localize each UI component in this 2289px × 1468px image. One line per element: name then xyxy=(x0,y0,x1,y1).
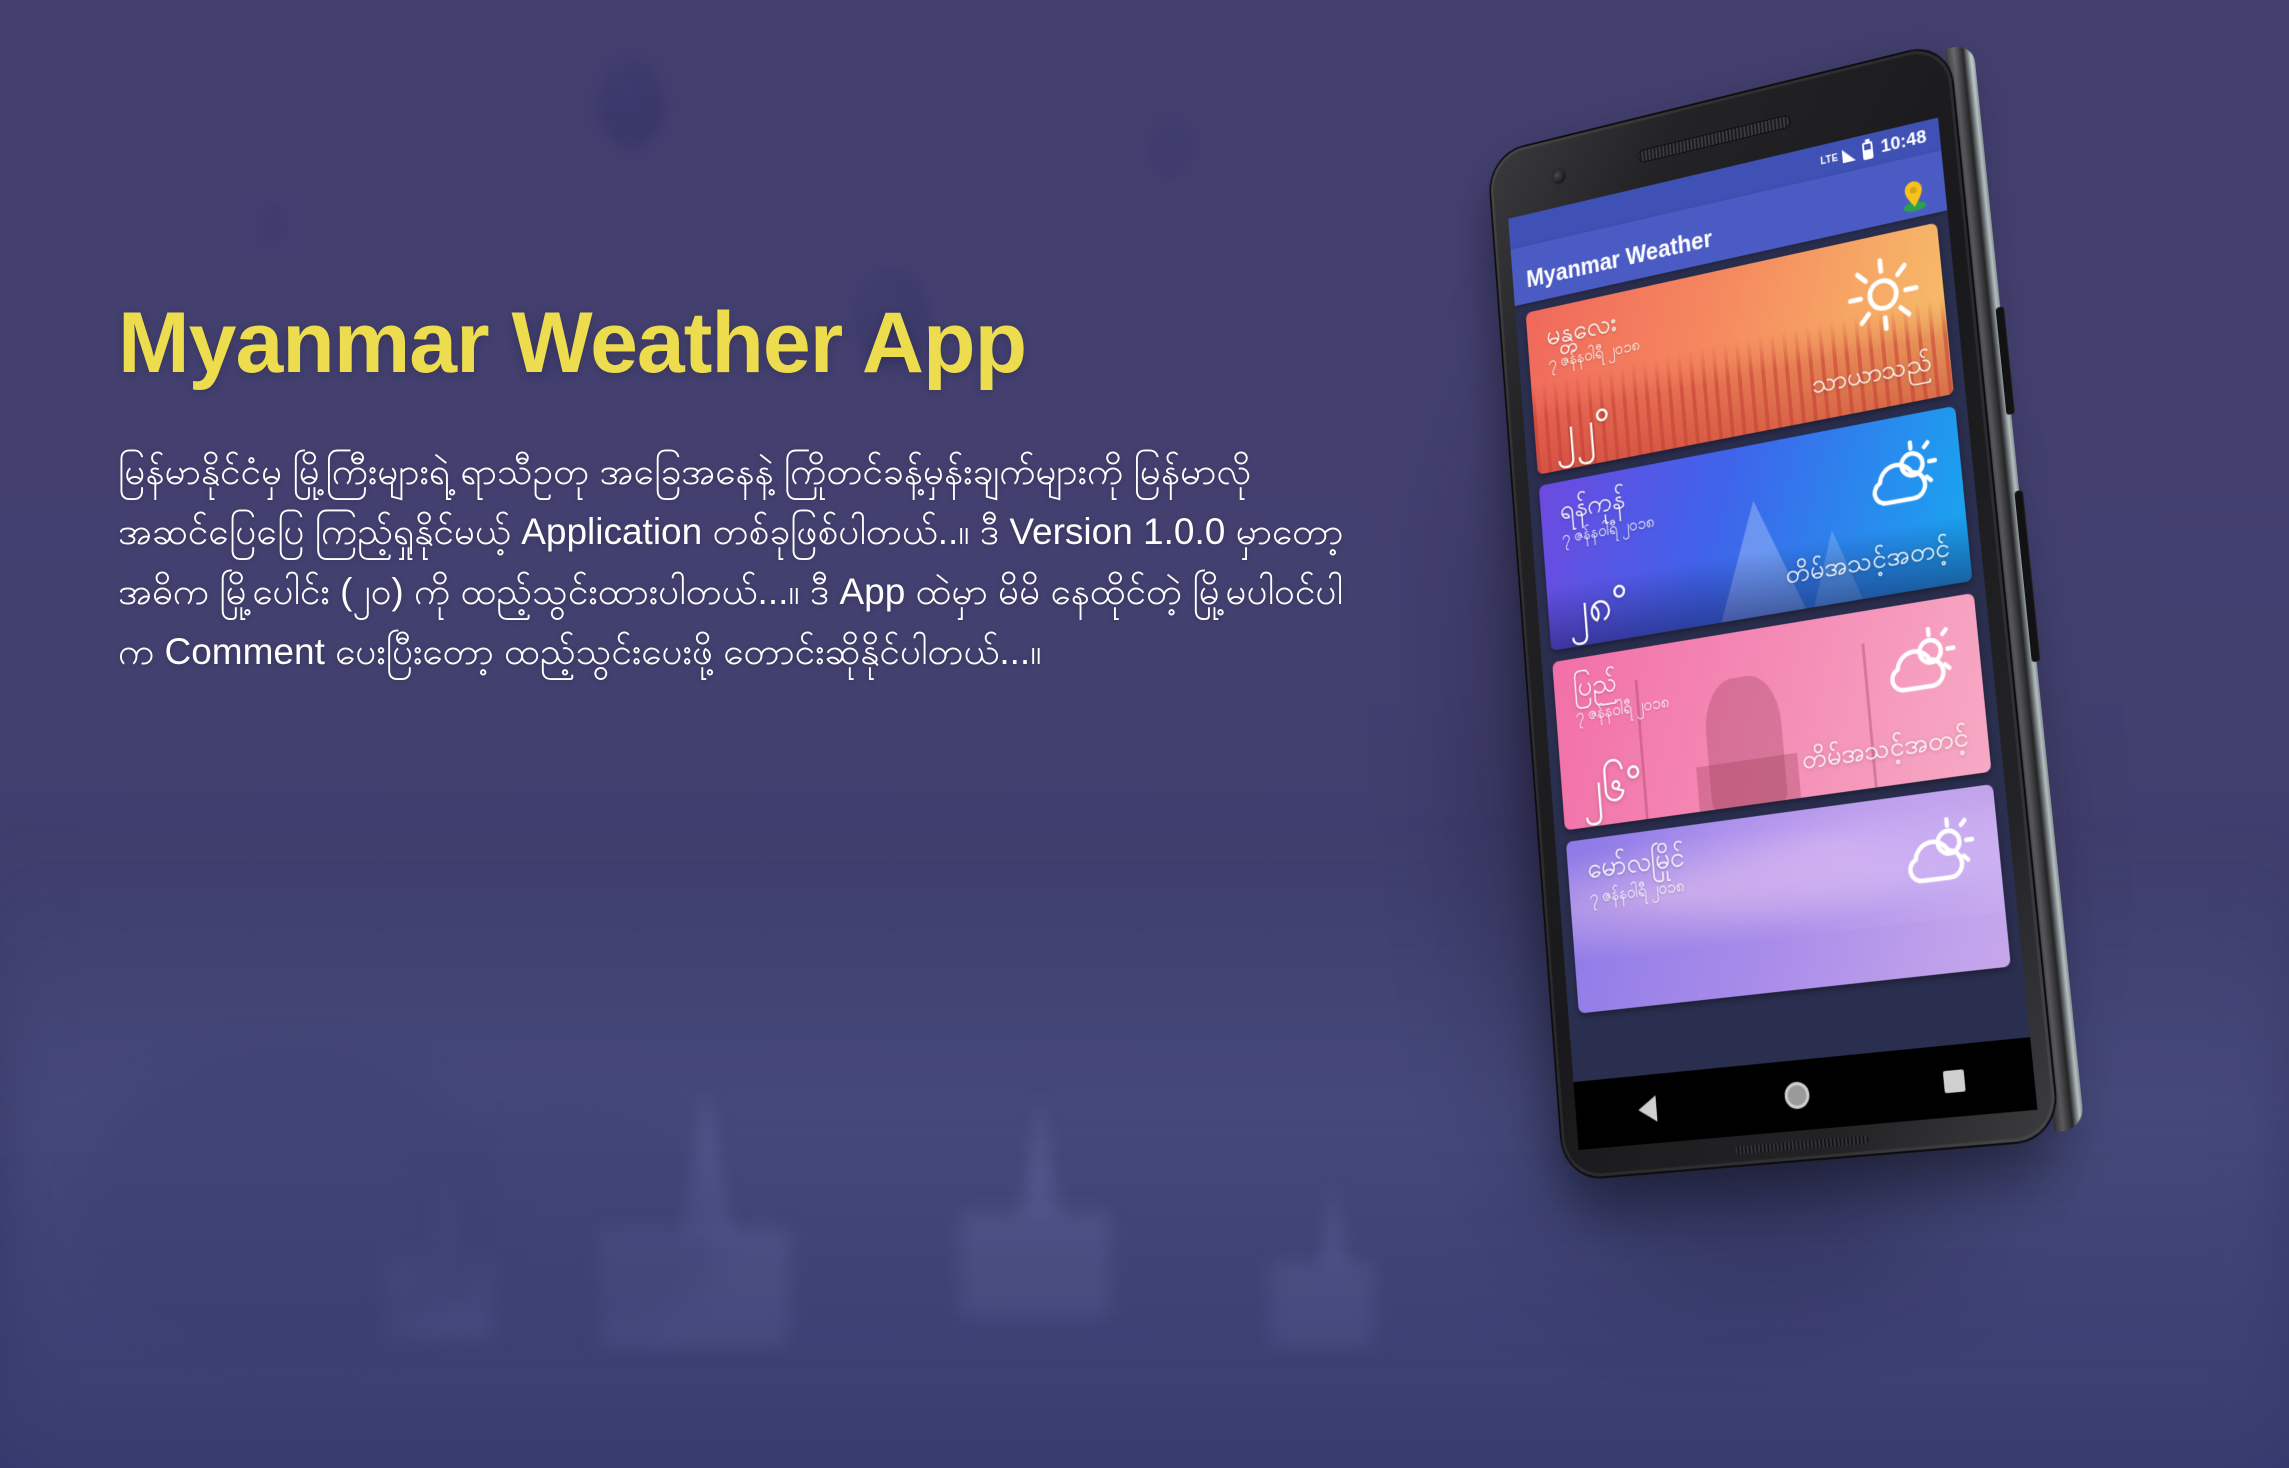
card-condition: တိမ်အသင့်အတင့် xyxy=(1784,530,1952,598)
lamp-post-art xyxy=(1862,643,1878,788)
weather-card-list: မန္တလေး ၇ ဇန်နဝါရီ ၂၀၁၈ ၂၂° သာယာသည် xyxy=(1515,210,2023,1014)
card-temperature: ၂၂° xyxy=(1552,402,1613,458)
status-bar-clock: 10:48 xyxy=(1880,126,1928,158)
sun-icon xyxy=(1843,249,1924,340)
earpiece-speaker xyxy=(1638,114,1791,164)
network-type-label: LTE xyxy=(1820,152,1838,167)
card-condition: သာယာသည် xyxy=(1811,345,1934,408)
circle-home-icon[interactable] xyxy=(1783,1081,1810,1110)
sun-behind-cloud-icon xyxy=(1878,619,1961,709)
card-temperature: ၂၆° xyxy=(1580,759,1645,815)
triangle-back-icon[interactable] xyxy=(1637,1095,1657,1123)
hot-air-balloon-icon xyxy=(1150,120,1190,174)
hero-text-column: Myanmar Weather App မြန်မာနိုင်ငံမှ မြို… xyxy=(118,300,1398,682)
square-recents-icon[interactable] xyxy=(1942,1069,1965,1093)
hero-paragraph: မြန်မာနိုင်ငံမှ မြို့ကြီးများရဲ့ ရာသီဥတု… xyxy=(118,442,1348,682)
phone-mockup: LTE 10:48 Myanmar Weather xyxy=(1495,75,2135,1415)
sun-behind-cloud-icon xyxy=(1895,810,1979,900)
hero-description: မြန်မာနိုင်ငံမှ မြို့ကြီးများရဲ့ ရာသီဥတု… xyxy=(118,442,1348,682)
battery-charging-icon xyxy=(1862,141,1874,161)
hot-air-balloon-icon xyxy=(255,200,289,246)
small-pagoda-art xyxy=(1808,526,1863,607)
card-condition: တိမ်အသင့်အတင့် xyxy=(1800,719,1970,783)
phone-device: LTE 10:48 Myanmar Weather xyxy=(1488,43,2058,1180)
map-pin-icon[interactable] xyxy=(1896,175,1931,215)
front-camera-icon xyxy=(1552,168,1566,185)
phone-screen: LTE 10:48 Myanmar Weather xyxy=(1508,118,2030,1083)
sun-behind-cloud-icon xyxy=(1860,432,1942,523)
page-title: Myanmar Weather App xyxy=(118,300,1398,386)
android-navigation-bar xyxy=(1573,1037,2037,1150)
bottom-speaker xyxy=(1735,1135,1868,1155)
card-temperature: ၂၈° xyxy=(1566,578,1631,634)
signal-bars-icon xyxy=(1842,147,1856,163)
